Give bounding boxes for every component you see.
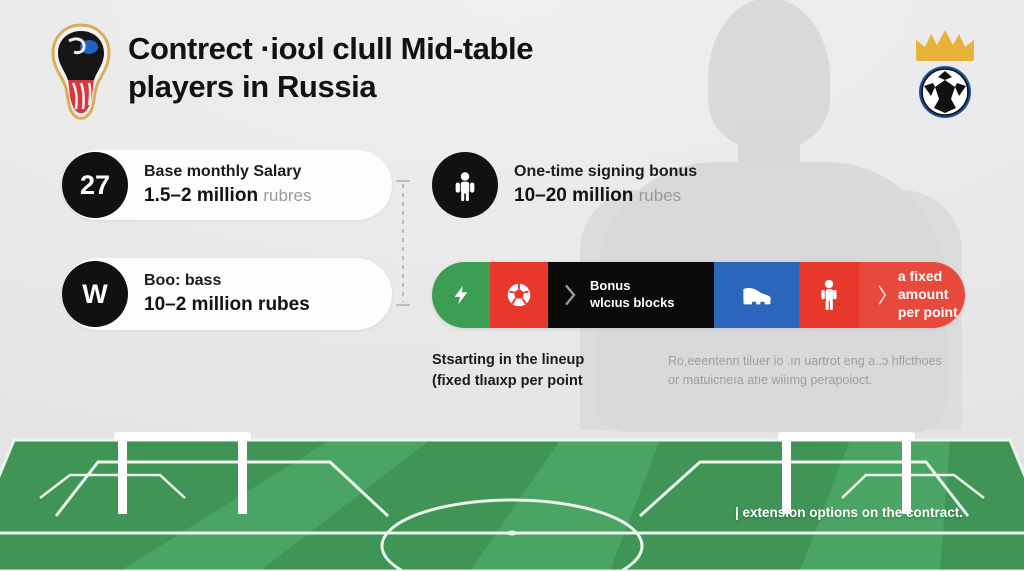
stat-card-base-salary[interactable]: 27 Base monthly Salary 1.5–2 million rub… <box>62 150 392 220</box>
number-badge: 27 <box>62 152 128 218</box>
football-pitch-illustration <box>0 396 1024 571</box>
stat-value-unit: rubres <box>263 186 311 205</box>
lightning-bolt-icon <box>450 284 472 306</box>
fixed-amount-line-2: per point <box>898 304 965 322</box>
person-standing-icon <box>432 152 498 218</box>
soccer-ball-icon <box>506 282 532 308</box>
stat-card-label: One-time signing bonus <box>514 161 697 183</box>
infographic-canvas: Contrect ·ioʊl clull Mid-table players i… <box>0 0 1024 571</box>
bonus-text-line-2: wlcıus blocks <box>590 295 675 312</box>
stat-card-value: 1.5–2 million rubres <box>144 183 312 210</box>
bar-segment-player[interactable] <box>799 262 859 328</box>
stat-value-number: 1.5–2 million <box>144 185 258 206</box>
stat-value-number: 10–20 million <box>514 185 633 206</box>
stat-value-number: 10–2 million rubes <box>144 294 310 315</box>
title-line-2: players in Russia <box>128 69 376 104</box>
chevron-right-icon <box>877 278 888 312</box>
world-cup-trophy-icon <box>49 23 113 121</box>
sublabel-left-line-1: Stsarting in the lineup <box>432 350 647 371</box>
crown-soccer-ball-crest-icon <box>900 20 990 120</box>
bar-segment-bonus-text: Bonus wlcıus blocks <box>590 278 675 311</box>
bar-segment-bonus[interactable]: Bonus wlcıus blocks <box>548 262 714 328</box>
dotted-connector <box>396 180 410 306</box>
sublabel-right-line-1: Ro,eeentenn tiluer io .ın uartrot eng a.… <box>668 352 968 371</box>
stat-card-label: Base monthly Salary <box>144 161 312 183</box>
bar-segment-lightning[interactable] <box>432 262 490 328</box>
football-boot-icon <box>740 283 774 307</box>
stat-card-value: 10–2 million rubes <box>144 292 310 319</box>
sublabel-left-line-2: (fixed tlıaıxp per point <box>432 371 647 392</box>
chevron-right-icon <box>562 282 578 308</box>
bonus-segment-bar: Bonus wlcıus blocks <box>432 262 965 328</box>
bar-sublabel-left: Stsarting in the lineup (fixed tlıaıxp p… <box>432 350 647 392</box>
bonus-text-line-1: Bonus <box>590 278 675 295</box>
stat-value-unit: rubes <box>639 186 682 205</box>
stat-card-bonus-base[interactable]: W Boo: bass 10–2 million rubes <box>62 258 392 330</box>
stat-card-signing-bonus[interactable]: One-time signing bonus 10–20 million rub… <box>432 150 762 220</box>
title-line-1: Contrect ·ioʊl clull Mid-table <box>128 31 533 66</box>
page-title: Contrect ·ioʊl clull Mid-table players i… <box>128 30 648 106</box>
stat-card-value: 10–20 million rubes <box>514 183 697 210</box>
stat-card-label: Boo: bass <box>144 270 310 292</box>
letter-w-badge: W <box>62 261 128 327</box>
bar-segment-fixed-amount-text: a fixed amount per point <box>898 268 965 322</box>
person-running-icon <box>816 279 842 311</box>
sublabel-right-line-2: or matuicneıa atıe wiiımg perapoioct. <box>668 371 968 390</box>
fixed-amount-line-1: a fixed amount <box>898 268 965 304</box>
bar-segment-boot[interactable] <box>714 262 799 328</box>
pitch-caption: | extension options on the contract. <box>735 505 963 520</box>
bar-sublabel-right: Ro,eeentenn tiluer io .ın uartrot eng a.… <box>668 352 968 391</box>
bar-segment-ball[interactable] <box>490 262 548 328</box>
bar-segment-fixed-amount[interactable]: a fixed amount per point <box>859 262 965 328</box>
